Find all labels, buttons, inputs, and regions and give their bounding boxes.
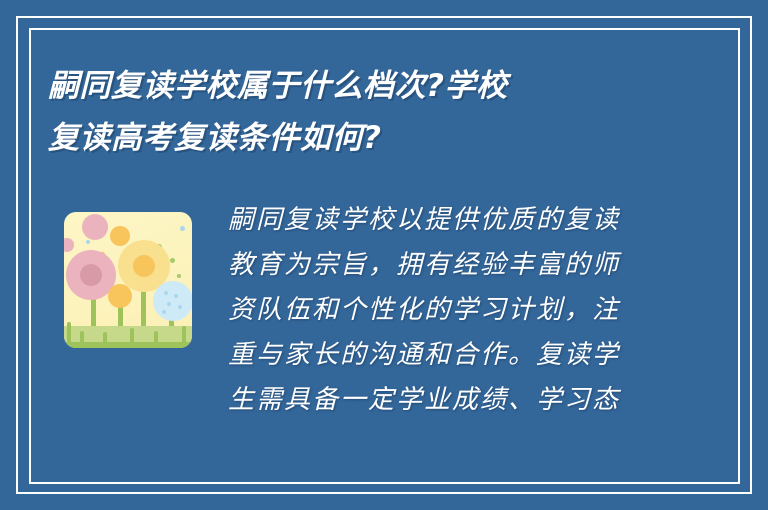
pink-flower-large-core [80, 264, 102, 286]
confetti-dot-blue-1 [180, 226, 185, 231]
confetti-dot-green-3 [177, 274, 181, 278]
pink-flower-tiny [64, 238, 74, 252]
article-body: 嗣同复读学校以提供优质的复读 教育为宗旨，拥有经验丰富的师 资队伍和个性化的学习… [48, 196, 726, 468]
blue-flower-spot-2 [174, 294, 178, 298]
article-line-4: 重与家长的沟通和合作。复读学 [228, 333, 726, 378]
poster-card: 嗣同复读学校属于什么档次?学校 复读高考复读条件如何? [0, 0, 768, 510]
blue-flower-spot-4 [178, 305, 182, 309]
blue-flower-spot-3 [167, 302, 171, 306]
pink-flower-small [82, 214, 108, 240]
yellow-flower-small [108, 284, 132, 308]
grass-base-line [64, 342, 192, 348]
confetti-dot-blue-2 [86, 240, 90, 244]
article-paragraph: 嗣同复读学校以提供优质的复读 教育为宗旨，拥有经验丰富的师 资队伍和个性化的学习… [228, 198, 726, 423]
yellow-flower-large-core [133, 255, 155, 277]
page-title: 嗣同复读学校属于什么档次?学校 复读高考复读条件如何? [48, 60, 668, 164]
page-title-line-2: 复读高考复读条件如何? [48, 112, 668, 164]
blue-flower-spot-1 [164, 291, 168, 295]
article-line-3: 资队伍和个性化的学习计划，注 [228, 288, 726, 333]
article-line-2: 教育为宗旨，拥有经验丰富的师 [228, 243, 726, 288]
blue-flower-petals [153, 281, 192, 321]
blue-flower-spot-5 [162, 310, 166, 314]
illustration-panel [64, 212, 192, 348]
grass-blade-1 [67, 322, 71, 344]
yellow-flower-top [110, 226, 130, 246]
confetti-dot-green-2 [170, 258, 175, 263]
flowers-illustration [58, 204, 198, 356]
article-line-1: 嗣同复读学校以提供优质的复读 [228, 198, 726, 243]
article-line-5: 生需具备一定学业成绩、学习态 [228, 378, 726, 423]
page-title-line-1: 嗣同复读学校属于什么档次?学校 [48, 60, 668, 112]
